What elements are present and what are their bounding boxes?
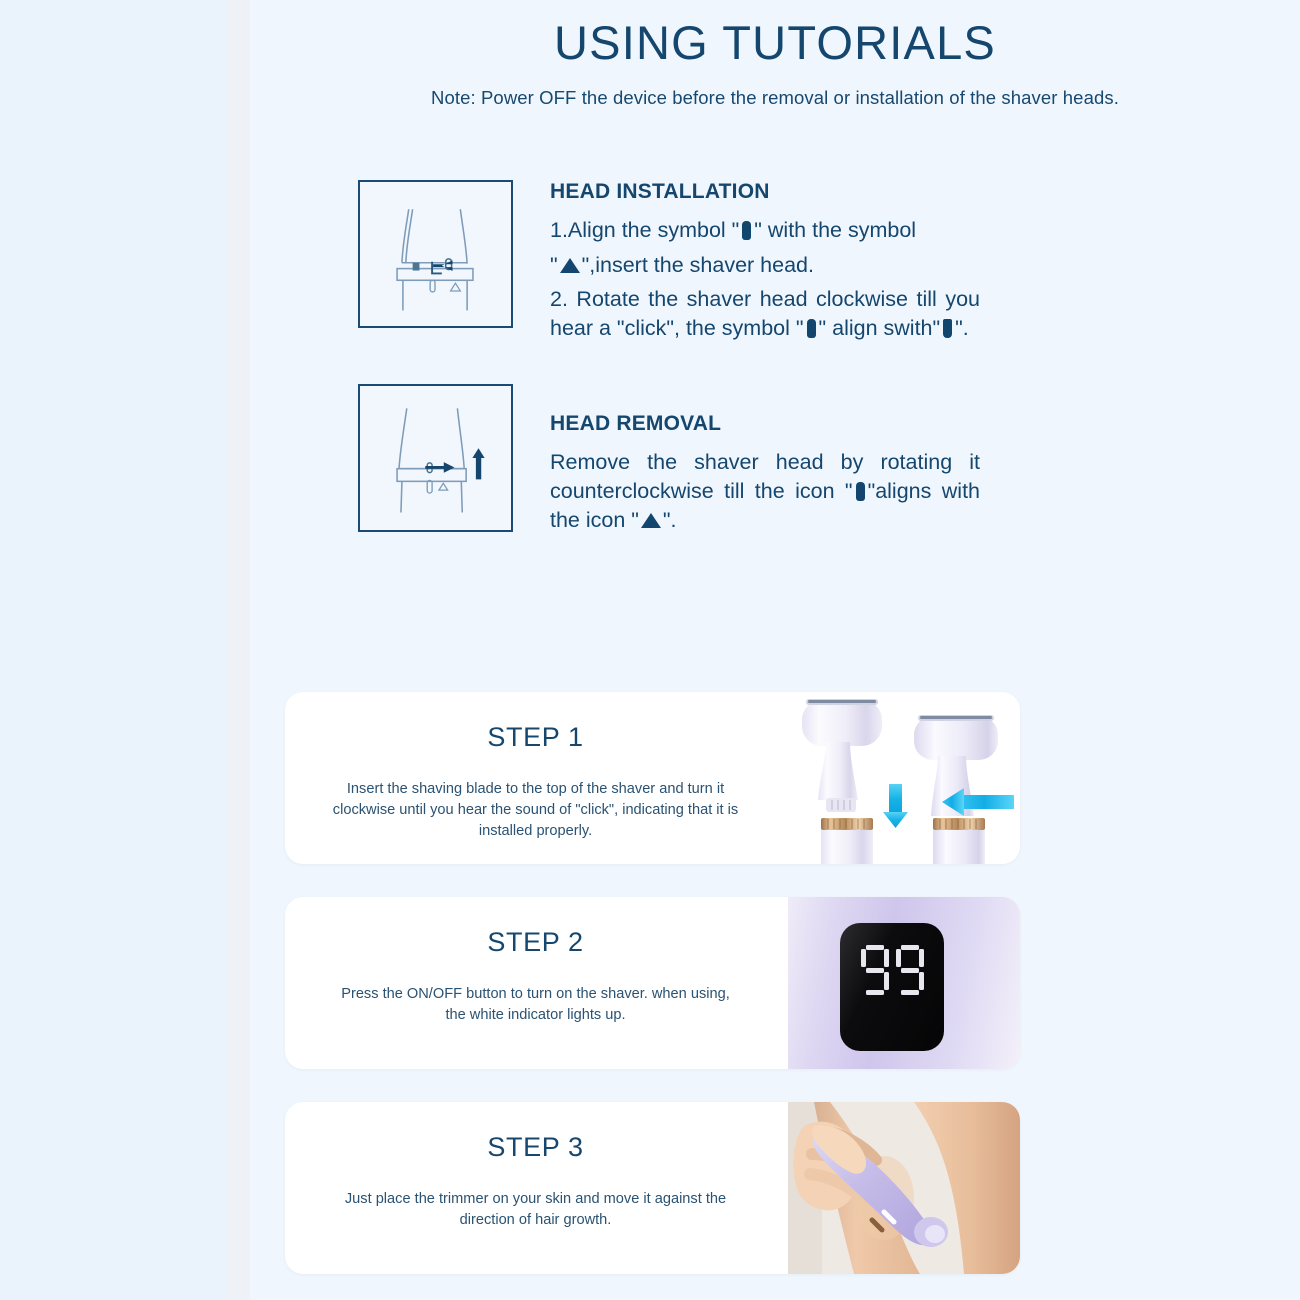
install-line-1-prefix: 1.Align the symbol " — [550, 218, 739, 242]
step-3-title: STEP 3 — [303, 1132, 768, 1163]
led-digit-left — [861, 945, 889, 995]
step-3-description: Just place the trimmer on your skin and … — [303, 1189, 768, 1231]
page-note: Note: Power OFF the device before the re… — [250, 87, 1300, 109]
led-digit-right — [896, 945, 924, 995]
capsule-icon — [807, 319, 816, 338]
capsule-icon — [742, 221, 751, 240]
head-installation-illustration — [358, 180, 513, 328]
head-removal-illustration — [358, 384, 513, 532]
instruction-block-head-installation: HEAD INSTALLATION 1.Align the symbol "" … — [250, 180, 1300, 348]
step-3-media — [788, 1102, 1020, 1274]
led-display — [840, 923, 944, 1051]
head-installation-text: HEAD INSTALLATION 1.Align the symbol "" … — [550, 180, 980, 348]
step-1-title: STEP 1 — [303, 722, 768, 753]
steps-section: STEP 1 Insert the shaving blade to the t… — [285, 692, 1020, 1300]
removal-line-1-suffix: ". — [663, 508, 677, 532]
capsule-icon — [856, 482, 865, 501]
step-1-description: Insert the shaving blade to the top of t… — [303, 779, 768, 842]
triangle-icon — [641, 513, 661, 528]
shaver-right — [914, 715, 998, 864]
shaver-left — [802, 699, 882, 864]
step-card-3: STEP 3 Just place the trimmer on your sk… — [285, 1102, 1020, 1274]
head-removal-heading: HEAD REMOVAL — [550, 412, 980, 436]
step-2-title: STEP 2 — [303, 927, 768, 958]
install-line-2-prefix: " — [550, 253, 558, 277]
page-root: USING TUTORIALS Note: Power OFF the devi… — [0, 0, 1300, 1300]
install-line-1-middle: " with the symbol — [754, 218, 916, 242]
led-digits — [840, 945, 944, 995]
step-card-2: STEP 2 Press the ON/OFF button to turn o… — [285, 897, 1020, 1069]
install-line-2-middle: ",insert the shaver head. — [582, 253, 814, 277]
removal-line-1: Remove the shaver head by rotating it co… — [550, 448, 980, 534]
capsule-flat-icon — [943, 319, 952, 338]
step-3-text: STEP 3 Just place the trimmer on your sk… — [285, 1102, 788, 1274]
install-line-3-suffix: ". — [955, 316, 969, 340]
install-line-1: 1.Align the symbol "" with the symbol — [550, 216, 980, 245]
step-2-media — [788, 897, 1020, 1069]
content-column: USING TUTORIALS Note: Power OFF the devi… — [250, 0, 1300, 1300]
instruction-block-head-removal: HEAD REMOVAL Remove the shaver head by r… — [250, 384, 1300, 540]
step-1-text: STEP 1 Insert the shaving blade to the t… — [285, 692, 788, 864]
step-1-media — [788, 692, 1020, 864]
arrow-down-icon — [883, 784, 908, 828]
head-installation-heading: HEAD INSTALLATION — [550, 180, 980, 204]
install-line-2: "",insert the shaver head. — [550, 251, 980, 280]
install-line-3-middle: " align swith" — [819, 316, 941, 340]
triangle-icon — [560, 258, 580, 273]
step-2-description: Press the ON/OFF button to turn on the s… — [303, 984, 768, 1026]
left-gutter-band — [227, 0, 250, 1300]
page-header: USING TUTORIALS Note: Power OFF the devi… — [250, 0, 1300, 109]
step-card-1: STEP 1 Insert the shaving blade to the t… — [285, 692, 1020, 864]
head-removal-text: HEAD REMOVAL Remove the shaver head by r… — [550, 412, 980, 540]
page-title: USING TUTORIALS — [250, 14, 1300, 73]
install-line-3: 2. Rotate the shaver head clockwise till… — [550, 285, 980, 342]
step-2-text: STEP 2 Press the ON/OFF button to turn o… — [285, 897, 788, 1069]
instructions-section: HEAD INSTALLATION 1.Align the symbol "" … — [250, 180, 1300, 540]
